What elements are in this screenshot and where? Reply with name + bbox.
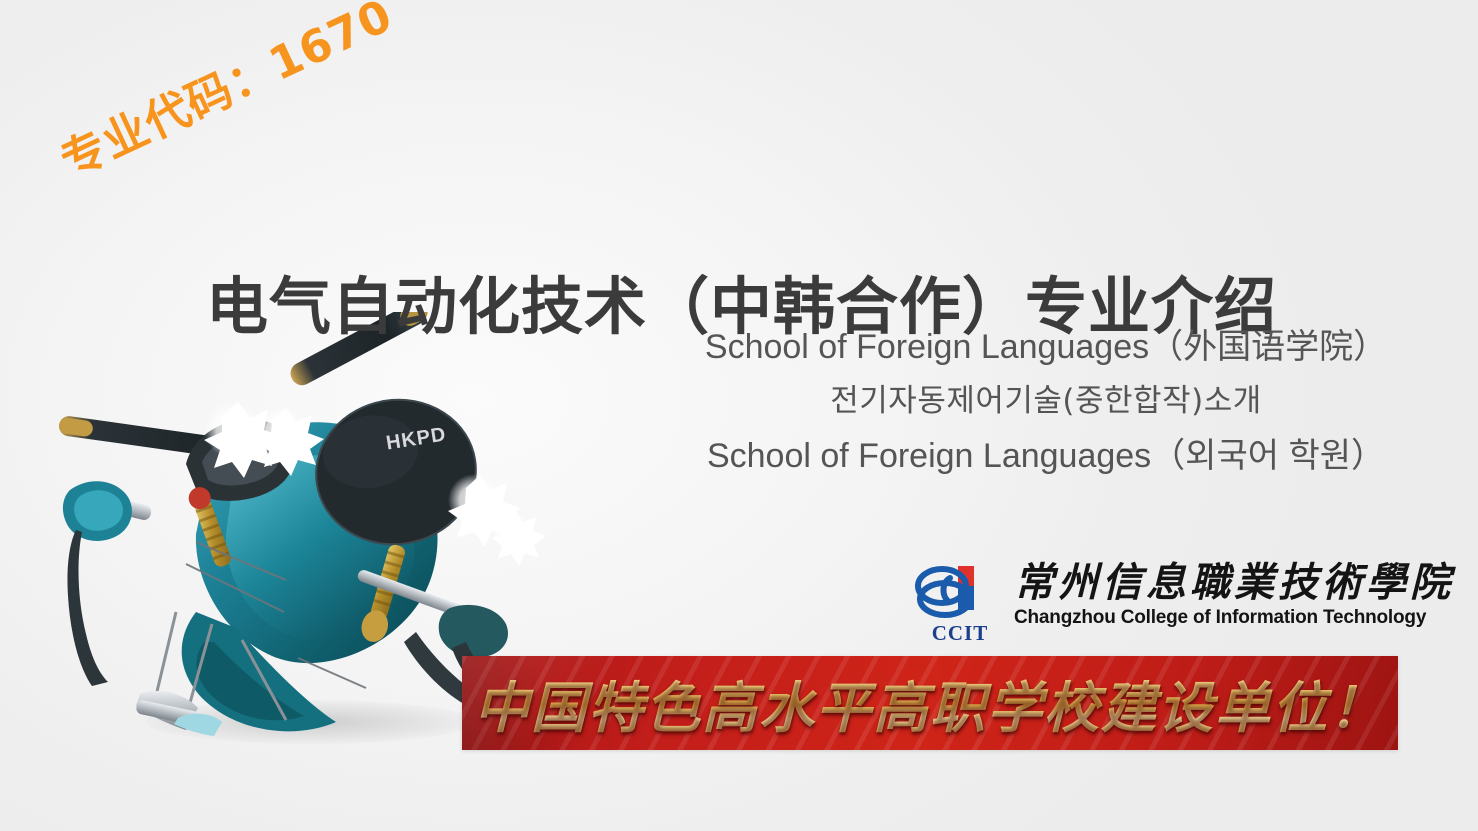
ccit-abbreviation: CCIT: [912, 621, 1008, 646]
institution-name-cn: 常州信息職業技術學院: [1014, 562, 1454, 604]
ccit-mark-icon: CCIT: [912, 562, 1008, 646]
subtitle-line-ko: 전기자동제어기술(중한합작)소개: [696, 386, 1396, 417]
subtitle-line-ko-en: School of Foreign Languages（외국어 학원）: [696, 439, 1396, 473]
ccit-wordmark: 常州信息職業技術學院 Changzhou College of Informat…: [1008, 562, 1454, 629]
subtitle-line-cn: School of Foreign Languages（外国语学院）: [696, 330, 1396, 364]
honor-banner-text: 中国特色高水平高职学校建设单位！: [474, 663, 1386, 743]
institution-logo: CCIT 常州信息職業技術學院 Changzhou College of Inf…: [912, 562, 1402, 648]
ccit-emblem-icon: [912, 562, 1008, 624]
presentation-slide: HKPD 专业代码：1670 电气自动化技术（中韩合作）专业介绍 School …: [0, 0, 1478, 831]
honor-banner: 中国特色高水平高职学校建设单位！: [462, 656, 1398, 750]
subtitle-block: School of Foreign Languages（外国语学院） 전기자동제…: [696, 330, 1396, 495]
program-code-badge: 专业代码：1670: [48, 0, 401, 190]
institution-name-en: Changzhou College of Information Technol…: [1014, 607, 1454, 629]
